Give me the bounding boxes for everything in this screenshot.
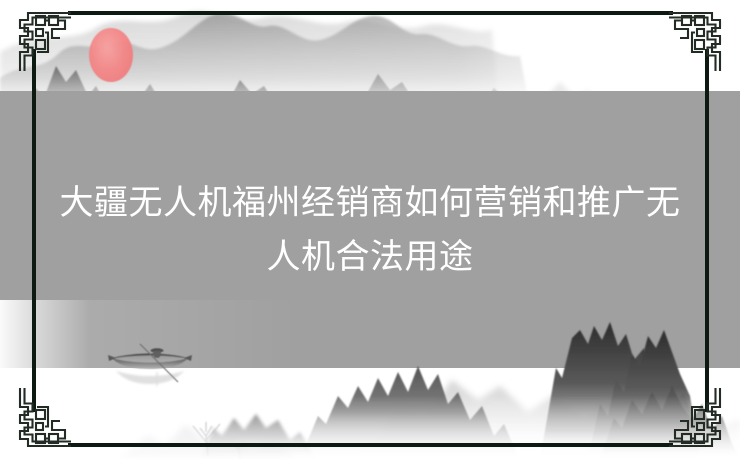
corner-ornament-top-right (666, 8, 732, 74)
red-sun-icon (89, 28, 133, 82)
frame-line-left (32, 49, 36, 412)
corner-ornament-top-left (8, 8, 74, 74)
page-title: 大疆无人机福州经销商如何营销和推广无人机合法用途 (50, 176, 690, 284)
poster-canvas: 大疆无人机福州经销商如何营销和推广无人机合法用途 (0, 0, 740, 459)
frame-line-bottom (68, 443, 673, 447)
frame-line-top (68, 11, 673, 15)
corner-ornament-bottom-right (666, 385, 732, 451)
frame-line-right (705, 49, 709, 412)
corner-ornament-bottom-left (8, 385, 74, 451)
fisherman-boat-icon (104, 342, 196, 394)
